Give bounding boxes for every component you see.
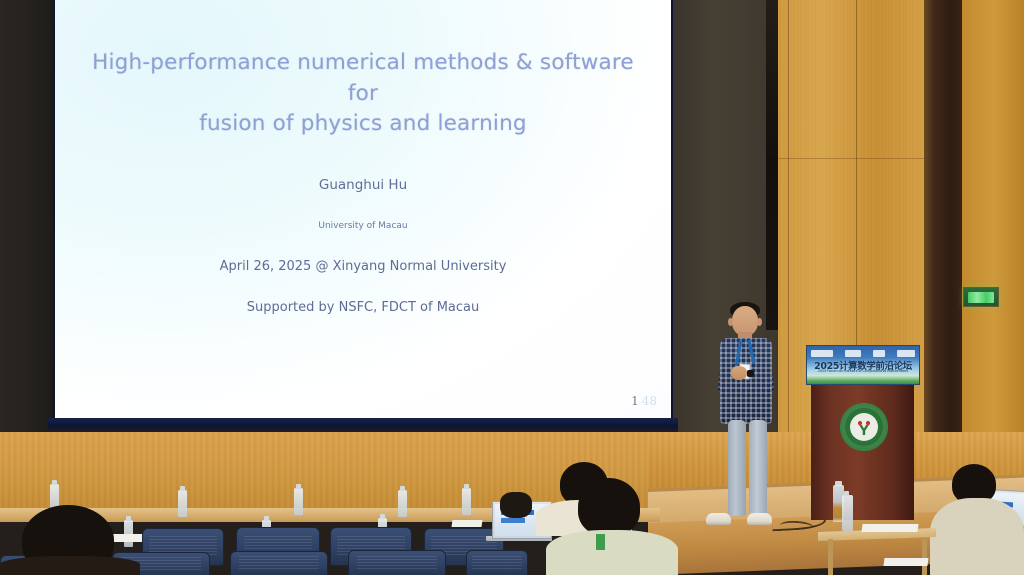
presentation-slide: High-performance numerical methods & sof…	[55, 0, 671, 418]
audience-shoulders	[546, 530, 678, 575]
audience-chair	[230, 551, 328, 575]
speaker-ear-left	[728, 318, 733, 326]
slide-title: High-performance numerical methods & sof…	[55, 48, 671, 140]
speaker	[706, 300, 786, 532]
paper-sheet	[861, 524, 918, 532]
audience-shoulders	[0, 556, 140, 575]
wall-right-wood-column	[962, 0, 1024, 470]
water-bottle	[294, 488, 303, 515]
podium: Y	[811, 385, 914, 520]
audience-back-wall	[0, 432, 648, 512]
sponsor-logo-1	[811, 350, 833, 357]
speaker-hands	[731, 366, 747, 380]
speaker-shoe-left	[706, 513, 731, 525]
slide-date-venue: April 26, 2025 @ Xinyang Normal Universi…	[55, 259, 671, 274]
university-seal-icon: Y	[840, 403, 888, 451]
paper-sheet	[452, 520, 483, 527]
speaker-shirt	[720, 338, 772, 424]
water-bottle	[842, 495, 853, 531]
water-bottle	[462, 488, 471, 515]
banner-subline: 2025 Forum on Frontiers of Computational…	[807, 369, 919, 373]
sponsor-logo-3	[873, 350, 885, 357]
left-dark-wall	[0, 0, 56, 432]
sponsor-logo-2	[845, 350, 861, 357]
water-bottle	[178, 490, 187, 517]
wall-dark-column	[924, 0, 962, 470]
speaker-watch	[747, 370, 754, 377]
side-table-leg	[922, 539, 927, 575]
speaker-leg-left	[728, 420, 746, 516]
slide-affiliation: University of Macau	[55, 221, 671, 231]
slide-title-line-1: High-performance numerical methods & sof…	[55, 48, 671, 79]
slide-funding: Supported by NSFC, FDCT of Macau	[55, 300, 671, 315]
slide-title-line-2: for	[55, 79, 671, 110]
page-total: 48	[642, 394, 657, 408]
audience-head	[500, 492, 532, 518]
audience-chair	[348, 550, 446, 575]
banner-sponsor-logos	[811, 349, 915, 357]
slide-title-line-3: fusion of physics and learning	[55, 109, 671, 140]
side-table-leg	[828, 539, 833, 575]
slide-page-number: 148	[631, 394, 657, 408]
sponsor-logo-4	[897, 350, 915, 357]
water-bottle	[398, 490, 407, 517]
exit-icon	[968, 292, 994, 303]
seal-monogram: Y	[857, 425, 871, 438]
audience-lanyard	[596, 534, 605, 550]
speaker-ear-right	[757, 318, 762, 326]
paper-sheet	[883, 558, 928, 566]
slide-author: Guanghui Hu	[55, 177, 671, 193]
speaker-legs	[725, 420, 769, 516]
speaker-shoe-right	[747, 513, 772, 525]
lecture-hall-scene: High-performance numerical methods & sof…	[0, 0, 1024, 575]
audience-head	[578, 478, 640, 536]
laptop-content-bar	[501, 518, 525, 523]
podium-banner: 2025计算数学前沿论坛 2025 Forum on Frontiers of …	[806, 345, 920, 385]
page-current: 1	[631, 394, 639, 408]
audience-shoulders	[930, 498, 1024, 575]
audience-chair	[466, 550, 528, 575]
seal-inner-disc: Y	[850, 413, 878, 441]
exit-sign	[963, 287, 999, 307]
screen-bottom-bar	[48, 418, 678, 432]
speaker-leg-right	[749, 420, 767, 516]
